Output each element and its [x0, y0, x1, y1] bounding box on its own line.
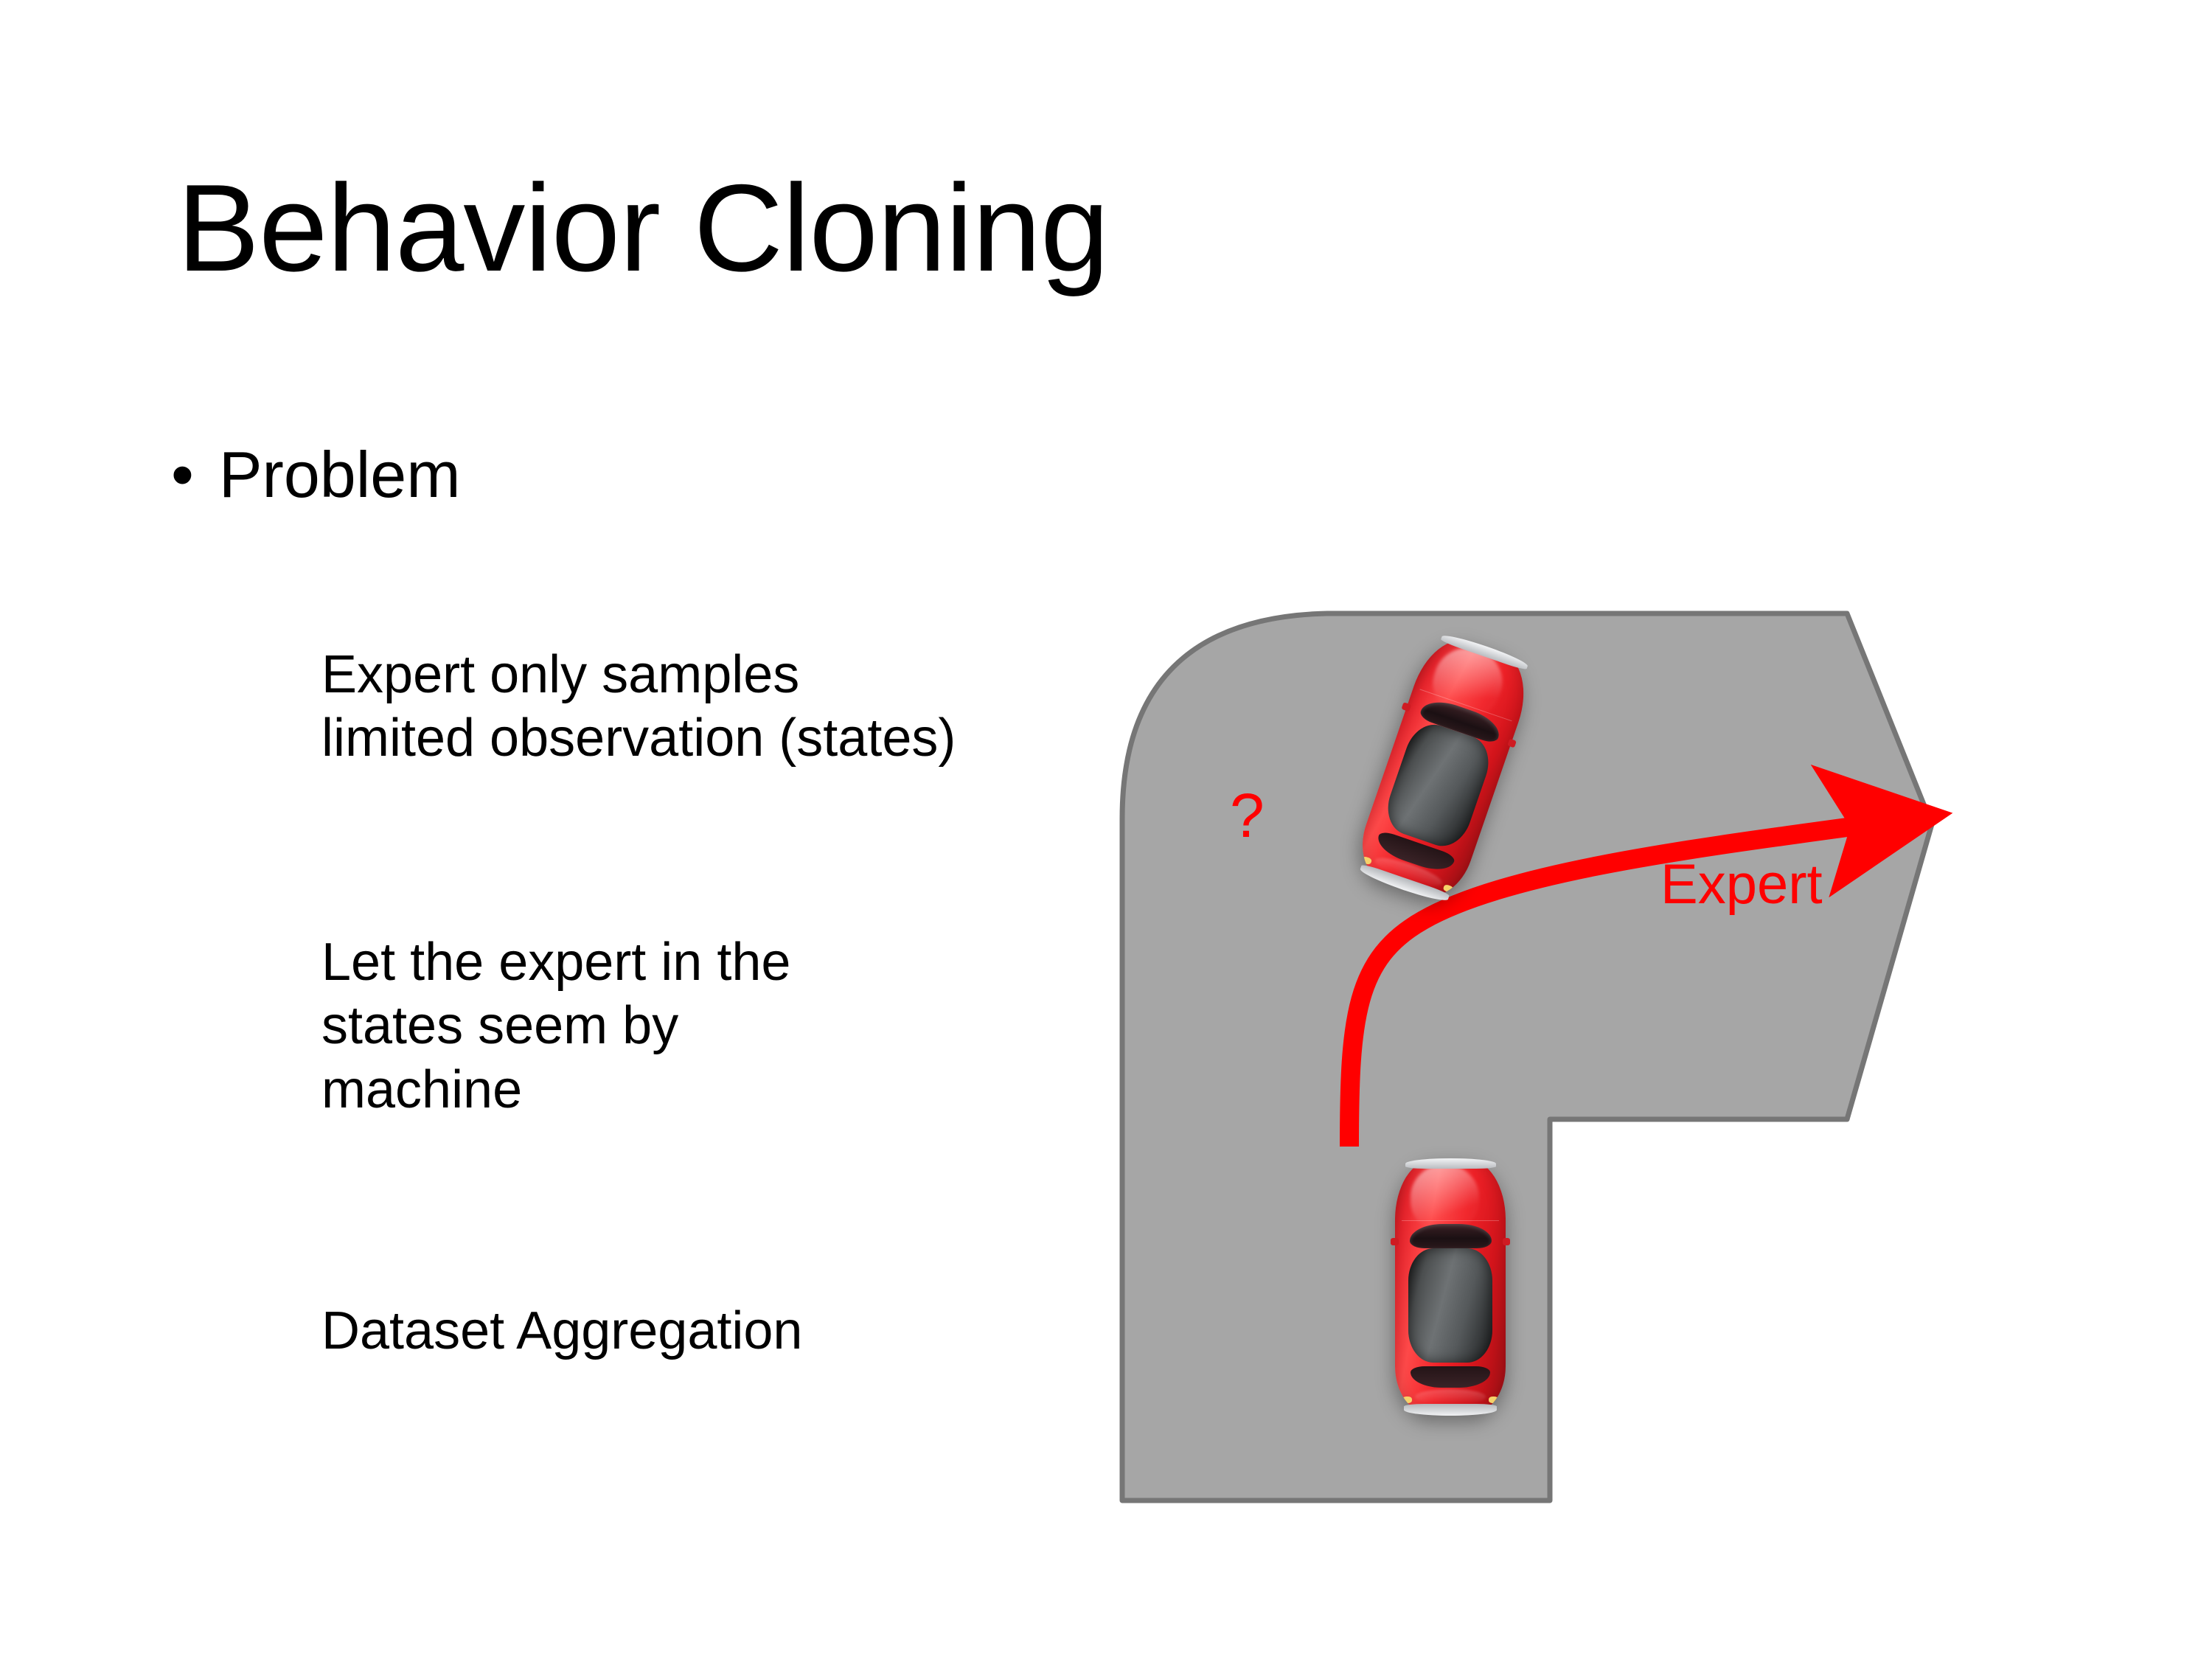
bullet-item-label: Problem: [219, 442, 461, 507]
expert-car-body: [1395, 1159, 1506, 1413]
car-taillight-left: [1402, 1397, 1413, 1403]
car-taillight-right: [1489, 1397, 1499, 1403]
road-turn-illustration: ? Expert: [1106, 575, 1976, 1526]
car-mirror-right: [1503, 1238, 1511, 1245]
sub-point-dataset-aggregation: Dataset Aggregation: [321, 1299, 1192, 1363]
car-front-bumper: [1405, 1158, 1496, 1169]
car-roof: [1408, 1248, 1492, 1363]
road-surface-shape: [1122, 613, 1932, 1500]
car-taillight-left: [1361, 855, 1373, 865]
question-mark-label: ?: [1230, 785, 1265, 846]
sub-point-expert-samples: Expert only samples limited observation …: [321, 643, 1192, 771]
page-title: Behavior Cloning: [177, 166, 1108, 290]
bullet-marker-icon: •: [171, 442, 194, 507]
sub-point-let-expert: Let the expert in the states seem by mac…: [321, 931, 1192, 1121]
car-rear-window: [1411, 1366, 1490, 1388]
expert-trajectory-label: Expert: [1660, 857, 1823, 913]
car-windshield: [1410, 1224, 1492, 1248]
car-rear-bumper: [1404, 1404, 1497, 1416]
road-diagram-svg: [1106, 575, 1976, 1526]
car-trunk-sheen: [1415, 1389, 1486, 1405]
bullet-item-problem: • Problem: [171, 442, 461, 507]
car-mirror-left: [1391, 1238, 1399, 1245]
slide-canvas: Behavior Cloning • Problem Expert only s…: [0, 0, 2212, 1659]
car-seam: [1402, 1220, 1499, 1221]
expert-car: [1395, 1159, 1506, 1413]
